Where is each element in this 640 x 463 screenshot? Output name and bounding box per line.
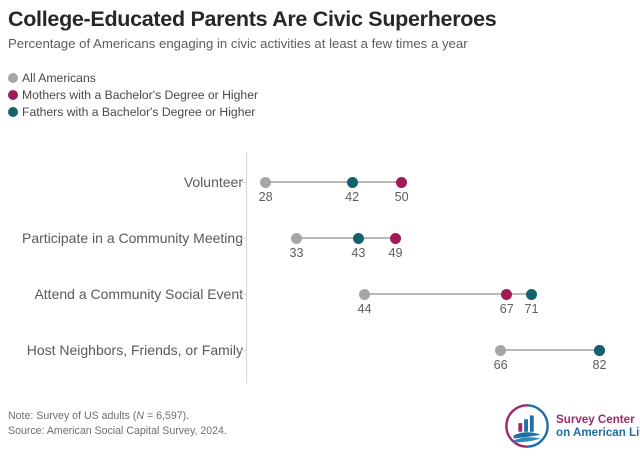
legend-dot-icon (8, 90, 18, 100)
legend-item[interactable]: All Americans (8, 70, 258, 86)
range-connector-line (365, 293, 532, 295)
data-point-dot[interactable] (347, 177, 358, 188)
note-n-symbol: N (136, 410, 144, 422)
category-tick (240, 182, 246, 183)
chart-row: Host Neighbors, Friends, or Family6682 (0, 342, 640, 398)
chart-row: Participate in a Community Meeting334349 (0, 230, 640, 286)
data-point-dot[interactable] (353, 233, 364, 244)
chart-header: College-Educated Parents Are Civic Super… (8, 6, 632, 53)
data-point-dot[interactable] (291, 233, 302, 244)
chart-legend: All AmericansMothers with a Bachelor's D… (8, 70, 258, 121)
data-point-dot[interactable] (594, 345, 605, 356)
data-point-dot[interactable] (495, 345, 506, 356)
category-tick (240, 294, 246, 295)
data-point-value-label: 44 (350, 302, 380, 317)
note-prefix: Note: Survey of US adults ( (8, 410, 136, 422)
survey-center-logo: Survey Center on American Life (503, 400, 638, 452)
data-point-value-label: 49 (380, 246, 410, 261)
category-label: Attend a Community Social Event (0, 286, 243, 302)
data-point-dot[interactable] (359, 289, 370, 300)
note-mid: = 6,597). (144, 410, 189, 422)
data-point-dot[interactable] (594, 345, 605, 356)
category-tick (240, 350, 246, 351)
category-label: Participate in a Community Meeting (0, 230, 243, 246)
page-title: College-Educated Parents Are Civic Super… (8, 6, 632, 32)
logo-wordmark: Survey Center on American Life (556, 413, 640, 439)
data-point-value-label: 33 (282, 246, 312, 261)
chart-row: Volunteer284250 (0, 174, 640, 230)
legend-dot-icon (8, 73, 18, 83)
legend-item-label: All Americans (22, 71, 96, 85)
logo-line-1: Survey Center (556, 413, 640, 426)
data-point-dot[interactable] (501, 289, 512, 300)
category-tick (240, 238, 246, 239)
category-axis-line (246, 152, 247, 383)
data-point-dot[interactable] (526, 289, 537, 300)
data-point-value-label: 71 (517, 302, 547, 317)
legend-item[interactable]: Fathers with a Bachelor's Degree or High… (8, 104, 258, 120)
data-point-dot[interactable] (396, 177, 407, 188)
data-point-value-label: 43 (343, 246, 373, 261)
source-line: Source: American Social Capital Survey, … (8, 424, 227, 439)
data-point-value-label: 67 (492, 302, 522, 317)
data-point-dot[interactable] (260, 177, 271, 188)
data-point-value-label: 82 (585, 358, 615, 373)
range-connector-line (297, 237, 396, 239)
data-point-dot[interactable] (390, 233, 401, 244)
range-connector-line (501, 349, 600, 351)
chart-subtitle: Percentage of Americans engaging in civi… (8, 34, 632, 53)
legend-dot-icon (8, 107, 18, 117)
legend-item-label: Mothers with a Bachelor's Degree or High… (22, 88, 258, 102)
legend-item-label: Fathers with a Bachelor's Degree or High… (22, 105, 255, 119)
category-label: Host Neighbors, Friends, or Family (0, 342, 243, 358)
chart-row: Attend a Community Social Event446771 (0, 286, 640, 342)
survey-center-logo-mark-icon (503, 402, 551, 450)
logo-line-2: on American Life (556, 426, 640, 439)
category-label: Volunteer (0, 174, 243, 190)
data-point-value-label: 42 (337, 190, 367, 205)
footer-notes: Note: Survey of US adults (N = 6,597). S… (8, 409, 227, 438)
data-point-value-label: 66 (486, 358, 516, 373)
data-point-value-label: 50 (387, 190, 417, 205)
range-connector-line (266, 181, 402, 183)
data-point-value-label: 28 (251, 190, 281, 205)
legend-item[interactable]: Mothers with a Bachelor's Degree or High… (8, 87, 258, 103)
note-line: Note: Survey of US adults (N = 6,597). (8, 409, 227, 424)
